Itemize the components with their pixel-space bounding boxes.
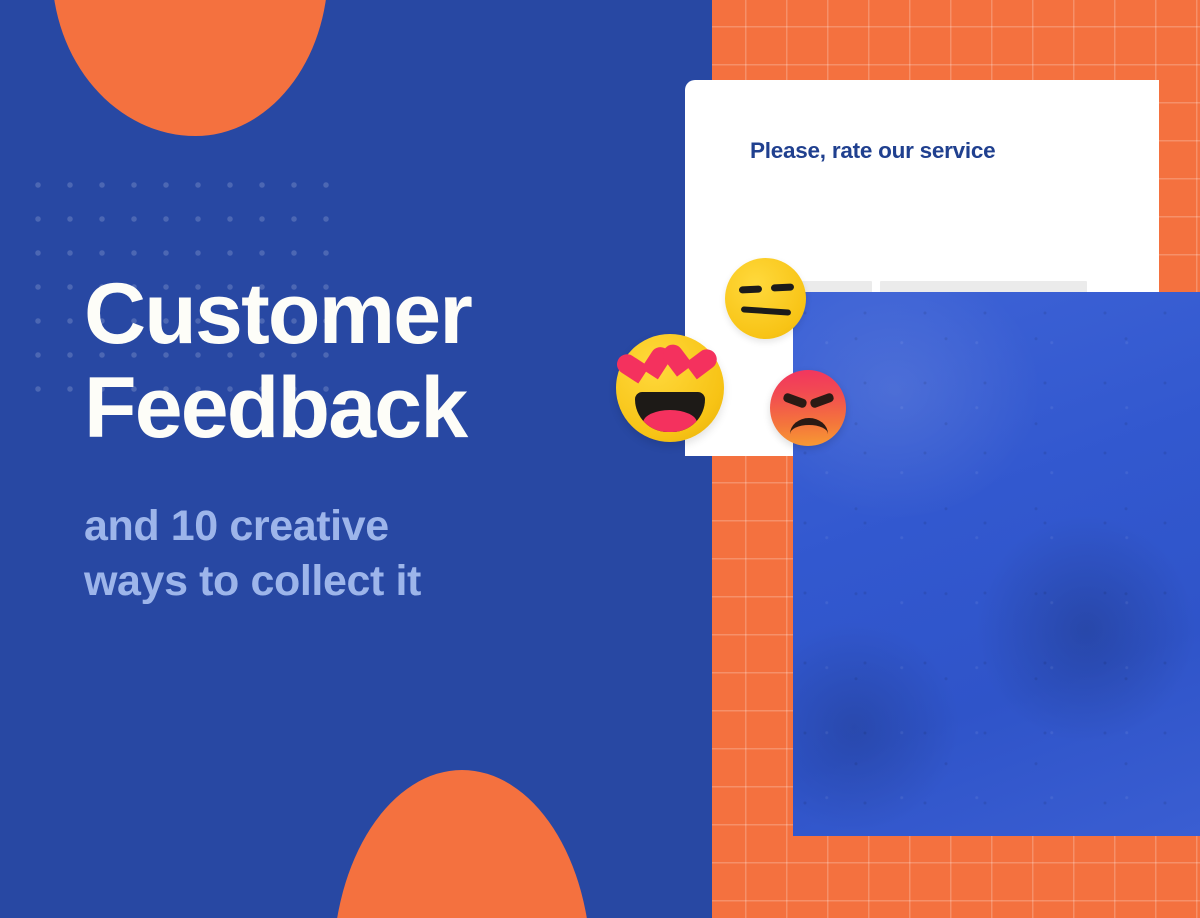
headline-line-1: Customer [84, 266, 471, 362]
orange-blob-top [52, 0, 328, 136]
angry-brow-right [809, 392, 835, 409]
navy-panel: Customer Feedback and 10 creative ways t… [0, 0, 712, 918]
heart-eye-right [668, 344, 708, 383]
page-title: Customer Feedback [84, 272, 644, 451]
heart-eye-left [623, 347, 665, 388]
poster-canvas: Customer Feedback and 10 creative ways t… [0, 0, 1200, 918]
tongue [643, 410, 697, 432]
angry-brow-left [782, 392, 808, 409]
subtitle-line-2: ways to collect it [84, 554, 644, 609]
subtitle-line-1: and 10 creative [84, 502, 389, 550]
angry-face-icon[interactable] [770, 370, 846, 446]
page-subtitle: and 10 creative ways to collect it [84, 499, 644, 609]
heart-eyes-face-icon[interactable] [616, 334, 724, 442]
neutral-mouth [741, 306, 791, 315]
neutral-face-icon[interactable] [725, 258, 806, 339]
angry-mouth [790, 418, 828, 434]
neutral-eye-right [771, 283, 794, 291]
neutral-eye-left [739, 285, 762, 293]
headline-block: Customer Feedback and 10 creative ways t… [84, 272, 644, 609]
orange-blob-bottom [333, 770, 591, 918]
open-mouth [635, 392, 705, 432]
headline-line-2: Feedback [84, 366, 644, 450]
